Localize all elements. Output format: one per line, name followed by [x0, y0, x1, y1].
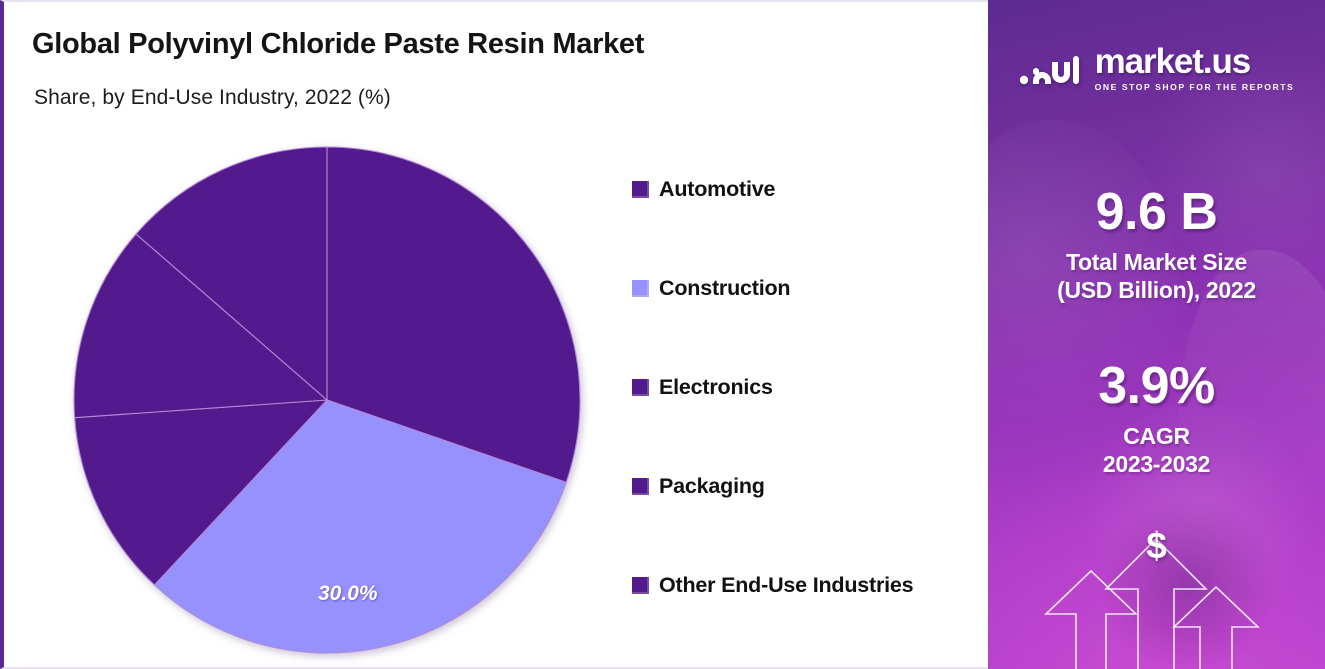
logo-text-block: market.us ONE STOP SHOP FOR THE REPORTS	[1095, 44, 1295, 92]
stat-value: 3.9%	[988, 360, 1325, 412]
stat-caption-line2: (USD Billion), 2022	[988, 276, 1325, 304]
legend-item-label: Automotive	[659, 177, 775, 202]
legend-item-automotive[interactable]: Automotive	[632, 140, 982, 239]
brand-panel: market.us ONE STOP SHOP FOR THE REPORTS …	[988, 0, 1325, 669]
legend-item-label: Electronics	[659, 375, 773, 400]
legend-item-packaging[interactable]: Packaging	[632, 437, 982, 536]
legend-swatch-icon	[632, 280, 649, 297]
legend-item-label: Other End-Use Industries	[659, 573, 913, 598]
stat-caption-line1: Total Market Size	[988, 248, 1325, 276]
stat-caption: CAGR 2023-2032	[988, 422, 1325, 478]
legend-swatch-icon	[632, 577, 649, 594]
chart-legend: Automotive Construction Electronics Pack…	[632, 140, 982, 635]
pie-slice-label-construction: 30.0%	[318, 582, 378, 606]
legend-item-label: Packaging	[659, 474, 765, 499]
chart-subtitle: Share, by End-Use Industry, 2022 (%)	[34, 86, 391, 110]
stat-caption-line2: 2023-2032	[988, 450, 1325, 478]
pie-chart-svg	[72, 144, 582, 656]
market-us-logo[interactable]: market.us ONE STOP SHOP FOR THE REPORTS	[988, 44, 1325, 92]
growth-arrows-graphic: $	[988, 509, 1325, 669]
pie-chart: 30.0%	[72, 144, 582, 656]
chart-panel: Global Polyvinyl Chloride Paste Resin Ma…	[0, 0, 988, 669]
stat-total-market-size: 9.6 B Total Market Size (USD Billion), 2…	[988, 186, 1325, 304]
logo-tagline: ONE STOP SHOP FOR THE REPORTS	[1095, 83, 1295, 92]
legend-item-label: Construction	[659, 276, 790, 301]
logo-wordmark: market.us	[1095, 44, 1250, 79]
legend-item-construction[interactable]: Construction	[632, 239, 982, 338]
stat-value: 9.6 B	[988, 186, 1325, 238]
legend-swatch-icon	[632, 478, 649, 495]
page-title: Global Polyvinyl Chloride Paste Resin Ma…	[32, 28, 644, 61]
stat-cagr: 3.9% CAGR 2023-2032	[988, 360, 1325, 478]
stat-caption: Total Market Size (USD Billion), 2022	[988, 248, 1325, 304]
infographic-root: Global Polyvinyl Chloride Paste Resin Ma…	[0, 0, 1325, 669]
legend-swatch-icon	[632, 379, 649, 396]
legend-item-other-end-use-industries[interactable]: Other End-Use Industries	[632, 536, 982, 635]
legend-item-electronics[interactable]: Electronics	[632, 338, 982, 437]
market-us-logo-icon	[1019, 48, 1085, 88]
pie-slice-group	[74, 147, 580, 653]
dollar-sign-icon: $	[988, 527, 1325, 564]
legend-swatch-icon	[632, 181, 649, 198]
stat-caption-line1: CAGR	[988, 422, 1325, 450]
